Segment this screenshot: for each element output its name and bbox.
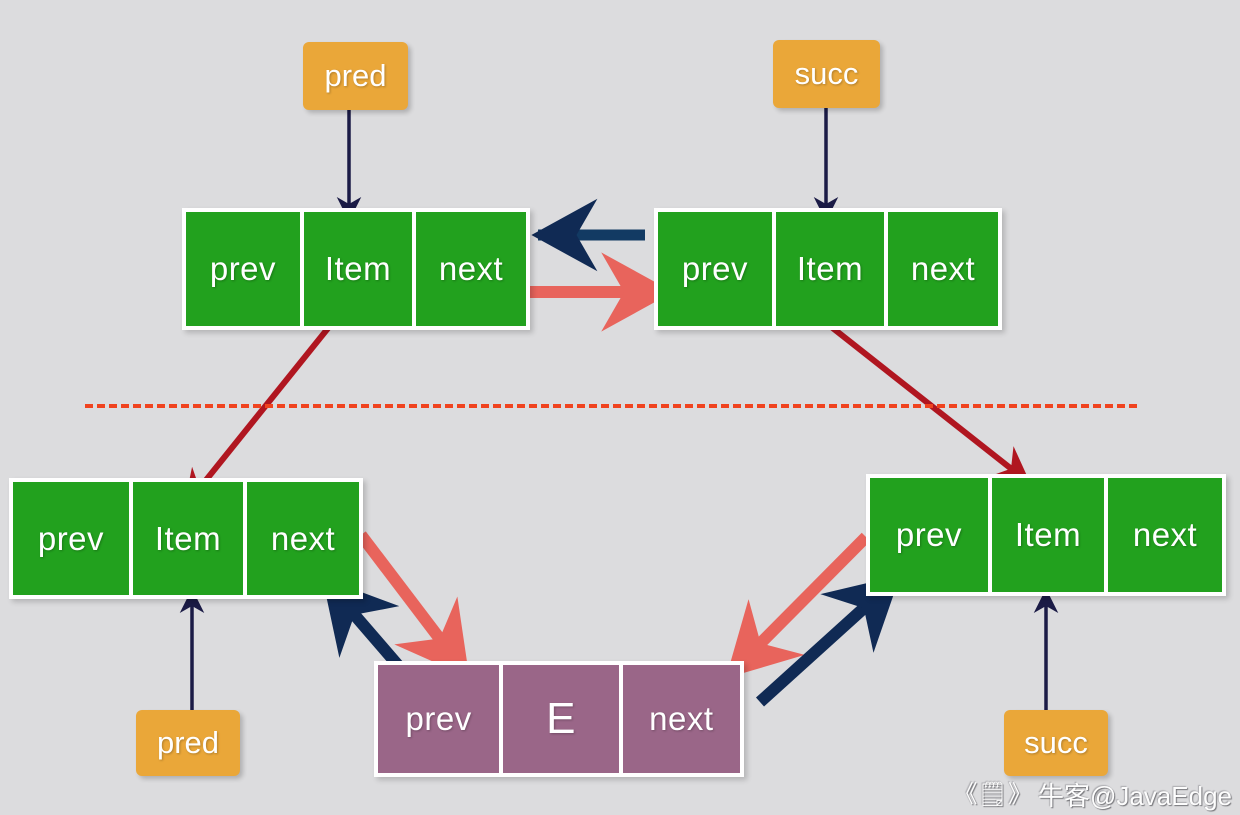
cell-prev[interactable]: prev [186,212,300,326]
before-after-divider [85,404,1137,408]
notepad-icon: 《🗒》 [953,783,1031,807]
arrow-top-right-to-bottom-right [820,318,1028,482]
pointer-label: pred [157,725,219,761]
pointer-pred-bottom[interactable]: pred [136,710,240,776]
cell-next[interactable]: next [1104,478,1222,592]
pointer-pred-top[interactable]: pred [303,42,408,110]
node-bottom-left[interactable]: prev Item next [9,478,363,599]
cell-next[interactable]: next [412,212,526,326]
cell-prev[interactable]: prev [658,212,772,326]
cell-next[interactable]: next [884,212,998,326]
cell-prev[interactable]: prev [378,665,499,773]
node-new-element[interactable]: prev E next [374,661,744,777]
watermark: 《🗒》 牛客@JavaEdge [953,776,1232,813]
pointer-label: succ [795,56,859,92]
cell-next[interactable]: next [619,665,740,773]
node-top-right[interactable]: prev Item next [654,208,1002,330]
cell-item[interactable]: Item [129,482,243,595]
cell-prev[interactable]: prev [870,478,988,592]
cell-item[interactable]: Item [300,212,412,326]
watermark-text: 牛客@JavaEdge [1038,776,1232,813]
arrow-bottom-right-prev-to-new-next [731,537,866,673]
cell-next[interactable]: next [243,482,359,595]
node-top-left[interactable]: prev Item next [182,208,530,330]
node-bottom-right[interactable]: prev Item next [866,474,1226,596]
arrow-new-next-to-bottom-right-prev [760,580,895,702]
cell-item[interactable]: Item [772,212,884,326]
cell-item[interactable]: E [499,665,618,773]
diagram-canvas: pred succ pred succ prev Item next prev … [0,0,1240,815]
pointer-succ-top[interactable]: succ [773,40,880,108]
pointer-succ-bottom[interactable]: succ [1004,710,1108,776]
pointer-label: pred [324,58,386,94]
arrow-bottom-left-next-to-new-prev [361,535,465,672]
pointer-label: succ [1024,725,1088,761]
cell-prev[interactable]: prev [13,482,129,595]
cell-item[interactable]: Item [988,478,1104,592]
